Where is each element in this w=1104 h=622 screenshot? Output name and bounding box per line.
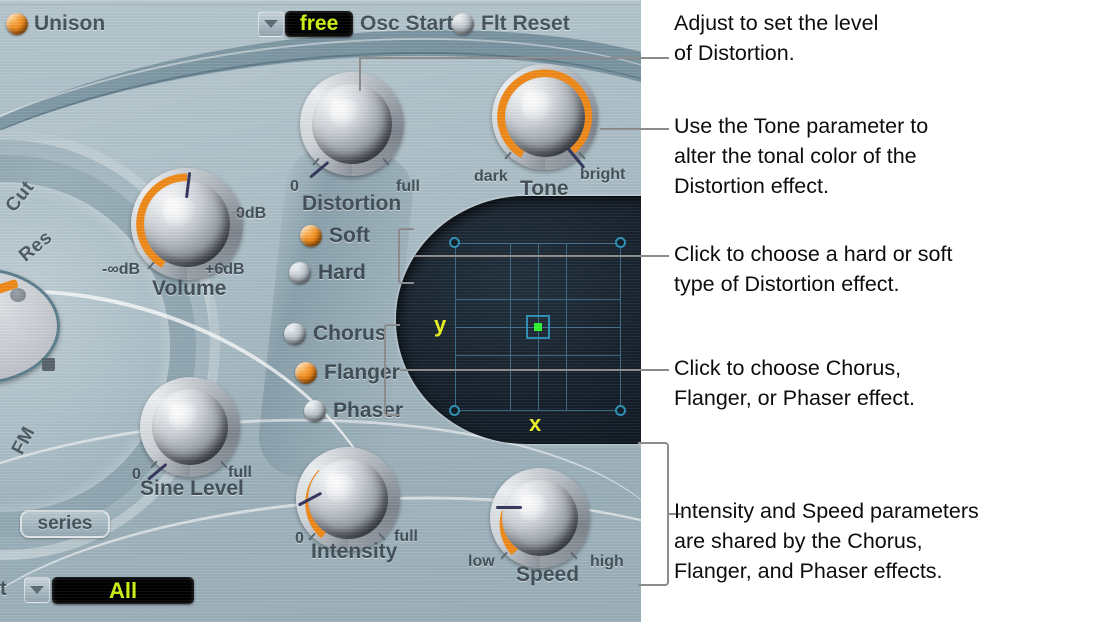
- xy-handle-top-right[interactable]: [615, 237, 626, 248]
- leader-line-distortion-type-white: [641, 255, 669, 257]
- osc-start-menu-button[interactable]: [258, 11, 284, 37]
- effect-chorus-label: Chorus: [313, 322, 387, 346]
- distortion-type-soft-button[interactable]: [300, 225, 322, 247]
- filter-knob-orange-marker: [0, 279, 19, 294]
- intensity-knob-label: Intensity: [311, 540, 397, 564]
- xy-grid-line: [566, 243, 567, 411]
- xy-grid-line: [620, 243, 621, 411]
- annotation-intensity-speed: Intensity and Speed parameters are share…: [674, 496, 979, 586]
- unison-label: Unison: [34, 12, 105, 36]
- distortion-knob-label: Distortion: [302, 192, 401, 216]
- view-menu-button[interactable]: [24, 577, 50, 603]
- effect-chorus-button[interactable]: [284, 323, 306, 345]
- volume-mid-tick: [232, 212, 242, 214]
- tone-knob[interactable]: [492, 64, 598, 170]
- intensity-knob[interactable]: [296, 447, 400, 551]
- chevron-down-icon: [264, 20, 278, 28]
- intensity-max-label: full: [394, 528, 418, 546]
- filter-knob-dot: [10, 288, 26, 302]
- xy-handle-top-left[interactable]: [449, 237, 460, 248]
- footer-left-label: t: [0, 578, 7, 601]
- tone-min-label: dark: [474, 168, 508, 186]
- tone-max-label: bright: [580, 166, 625, 184]
- annotation-column: Adjust to set the level of Distortion. U…: [641, 0, 1104, 622]
- screenshot-root: Cut Res FM Unison free Osc Start Flt Res…: [0, 0, 1104, 622]
- xy-pad[interactable]: [455, 243, 621, 411]
- distortion-type-soft-label: Soft: [329, 224, 370, 248]
- volume-knob-label: Volume: [152, 277, 226, 301]
- annotation-tone: Use the Tone parameter to alter the tona…: [674, 111, 928, 201]
- intensity-knob-cap: [308, 459, 387, 538]
- annotation-distortion-level: Adjust to set the level of Distortion.: [674, 8, 878, 68]
- filter-knob-square-marker: [42, 358, 55, 371]
- speed-knob-pointer: [496, 506, 522, 509]
- distortion-type-hard-label: Hard: [318, 261, 366, 285]
- bracket-modulation-effect: [384, 324, 400, 416]
- xy-handle-bottom-right[interactable]: [615, 405, 626, 416]
- leader-line-tone: [600, 128, 641, 130]
- bracket-distortion-type: [398, 228, 414, 284]
- xy-axis-label-y: y: [434, 312, 446, 338]
- volume-min-label: -∞dB: [102, 261, 140, 279]
- leader-stem-distortion: [359, 59, 361, 91]
- xy-grid-line: [510, 243, 511, 411]
- distortion-knob[interactable]: [300, 72, 404, 176]
- chevron-down-icon: [30, 586, 44, 594]
- tone-knob-label: Tone: [520, 177, 569, 201]
- leader-line-distortion: [359, 57, 641, 59]
- xy-cursor-dot: [534, 323, 542, 331]
- effect-flanger-button[interactable]: [295, 362, 317, 384]
- annotation-modulation-effect: Click to choose Chorus, Flanger, or Phas…: [674, 353, 915, 413]
- edge-label-cut: Cut: [2, 177, 40, 217]
- distortion-knob-cap: [312, 84, 391, 163]
- filter-knob[interactable]: [0, 268, 60, 384]
- speed-knob-label: Speed: [516, 563, 579, 587]
- speed-min-label: low: [468, 553, 495, 571]
- xy-handle-bottom-left[interactable]: [449, 405, 460, 416]
- series-button[interactable]: series: [20, 510, 110, 538]
- leader-line-distortion-type: [414, 255, 641, 257]
- es2-synth-panel: Cut Res FM Unison free Osc Start Flt Res…: [0, 0, 641, 622]
- sine-level-knob[interactable]: [140, 377, 240, 477]
- intensity-min-label: 0: [295, 530, 304, 548]
- osc-start-value-display[interactable]: free: [285, 11, 353, 37]
- edge-label-res: Res: [15, 227, 57, 267]
- leader-line-distortion-white: [641, 57, 669, 59]
- speed-knob[interactable]: [490, 468, 590, 568]
- leader-line-tone-white: [641, 128, 669, 130]
- distortion-min-label: 0: [290, 178, 299, 196]
- tone-knob-cap: [505, 77, 586, 158]
- volume-mid-label: 0dB: [236, 205, 266, 223]
- unison-button[interactable]: [6, 13, 28, 35]
- speed-max-label: high: [590, 553, 624, 571]
- xy-axis-label-x: x: [529, 411, 541, 437]
- view-menu-value-display[interactable]: All: [52, 577, 194, 604]
- distortion-type-hard-button[interactable]: [289, 262, 311, 284]
- flt-reset-label: Flt Reset: [481, 12, 570, 36]
- edge-label-fm: FM: [8, 423, 41, 458]
- sine-level-knob-cap: [152, 389, 228, 465]
- flt-reset-button[interactable]: [452, 13, 474, 35]
- leader-line-modulation-effect-white: [641, 369, 669, 371]
- annotation-distortion-type: Click to choose a hard or soft type of D…: [674, 239, 952, 299]
- effect-phaser-button[interactable]: [304, 400, 326, 422]
- sine-level-knob-label: Sine Level: [140, 477, 244, 501]
- xy-grid-line: [455, 243, 456, 411]
- bracket-intensity-speed: [638, 442, 669, 586]
- leader-line-modulation-effect: [400, 369, 641, 371]
- osc-start-label: Osc Start: [360, 12, 453, 36]
- xy-cursor[interactable]: [526, 315, 550, 339]
- speed-knob-cap: [502, 480, 578, 556]
